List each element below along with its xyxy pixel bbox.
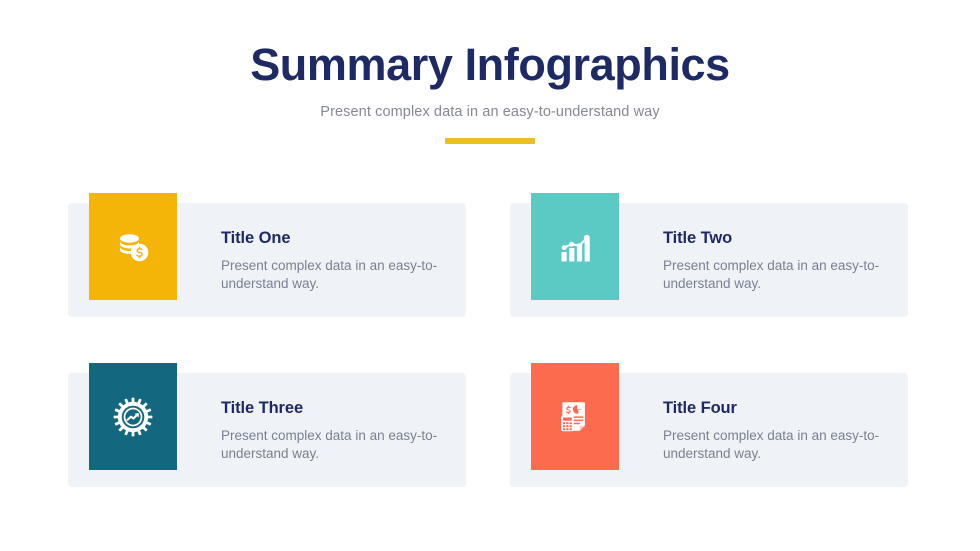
bar-chart-growth-icon: [555, 227, 595, 267]
stacked-coins-dollar-icon: [113, 227, 153, 267]
card-text-block: Title Two Present complex data in an eas…: [663, 228, 895, 293]
card-text-block: Title Four Present complex data in an ea…: [663, 398, 895, 463]
accent-divider: [445, 138, 535, 144]
slide-header: Summary Infographics Present complex dat…: [0, 38, 980, 144]
card-item[interactable]: Title Two Present complex data in an eas…: [510, 203, 908, 317]
card-title: Title One: [221, 228, 453, 248]
card-icon-tile: [531, 193, 619, 300]
card-text-block: Title Three Present complex data in an e…: [221, 398, 453, 463]
card-description: Present complex data in an easy-to-under…: [221, 257, 453, 293]
card-title: Title Four: [663, 398, 895, 418]
card-icon-tile: [531, 363, 619, 470]
card-description: Present complex data in an easy-to-under…: [663, 257, 895, 293]
gear-trending-arrow-icon: [112, 396, 154, 438]
card-item[interactable]: Title One Present complex data in an eas…: [68, 203, 466, 317]
slide-canvas: Summary Infographics Present complex dat…: [0, 0, 980, 551]
card-title: Title Two: [663, 228, 895, 248]
card-description: Present complex data in an easy-to-under…: [221, 427, 453, 463]
invoice-calculator-icon: [556, 398, 594, 436]
card-description: Present complex data in an easy-to-under…: [663, 427, 895, 463]
card-title: Title Three: [221, 398, 453, 418]
cards-grid: Title One Present complex data in an eas…: [68, 203, 918, 493]
card-item[interactable]: Title Three Present complex data in an e…: [68, 373, 466, 487]
page-title: Summary Infographics: [0, 38, 980, 92]
card-item[interactable]: Title Four Present complex data in an ea…: [510, 373, 908, 487]
card-text-block: Title One Present complex data in an eas…: [221, 228, 453, 293]
card-icon-tile: [89, 363, 177, 470]
card-icon-tile: [89, 193, 177, 300]
page-subtitle: Present complex data in an easy-to-under…: [0, 102, 980, 122]
